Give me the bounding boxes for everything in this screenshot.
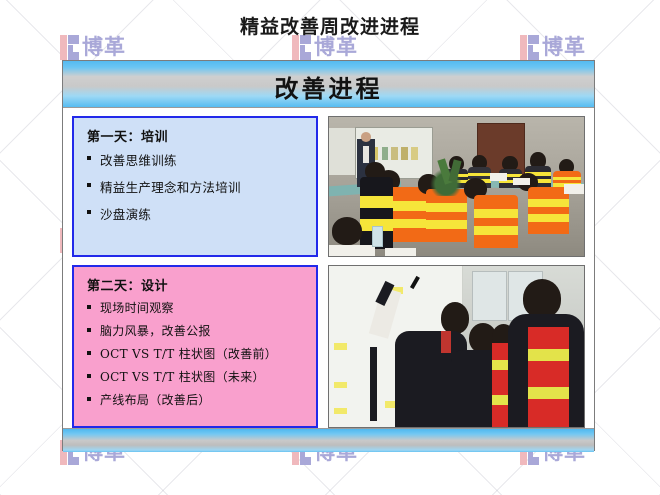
list-item: OCT VS T/T 柱状图（未来） <box>82 368 308 385</box>
list-item: 产线布局（改善后） <box>82 391 308 408</box>
right-column <box>328 116 585 428</box>
list-item: 现场时间观察 <box>82 299 308 316</box>
slide-banner-title: 改善进程 <box>63 69 594 104</box>
page-title: 精益改善周改进进程 <box>0 12 660 39</box>
list-item: 脑力风暴，改善公报 <box>82 322 308 339</box>
photo-workshop <box>328 265 585 428</box>
panel-day1-list: 改善思维训练 精益生产理念和方法培训 沙盘演练 <box>82 150 308 223</box>
panel-day1: 第一天：培训 改善思维训练 精益生产理念和方法培训 沙盘演练 <box>72 116 318 257</box>
slide-bottom-bar <box>63 428 594 452</box>
photo-training <box>328 116 585 257</box>
left-column: 第一天：培训 改善思维训练 精益生产理念和方法培训 沙盘演练 第二天：设计 现场… <box>72 116 318 428</box>
list-item: OCT VS T/T 柱状图（改善前） <box>82 345 308 362</box>
panel-day2-list: 现场时间观察 脑力风暴，改善公报 OCT VS T/T 柱状图（改善前） OCT… <box>82 299 308 408</box>
panel-day2: 第二天：设计 现场时间观察 脑力风暴，改善公报 OCT VS T/T 柱状图（改… <box>72 265 318 428</box>
panel-day2-heading: 第二天：设计 <box>87 275 308 294</box>
slide-body: 第一天：培训 改善思维训练 精益生产理念和方法培训 沙盘演练 第二天：设计 现场… <box>63 108 594 428</box>
slide: 改善进程 第一天：培训 改善思维训练 精益生产理念和方法培训 沙盘演练 第二天：… <box>62 60 595 451</box>
list-item: 改善思维训练 <box>82 150 308 169</box>
panel-day1-heading: 第一天：培训 <box>87 126 308 145</box>
list-item: 沙盘演练 <box>82 204 308 223</box>
list-item: 精益生产理念和方法培训 <box>82 177 308 196</box>
slide-banner: 改善进程 <box>63 61 594 108</box>
